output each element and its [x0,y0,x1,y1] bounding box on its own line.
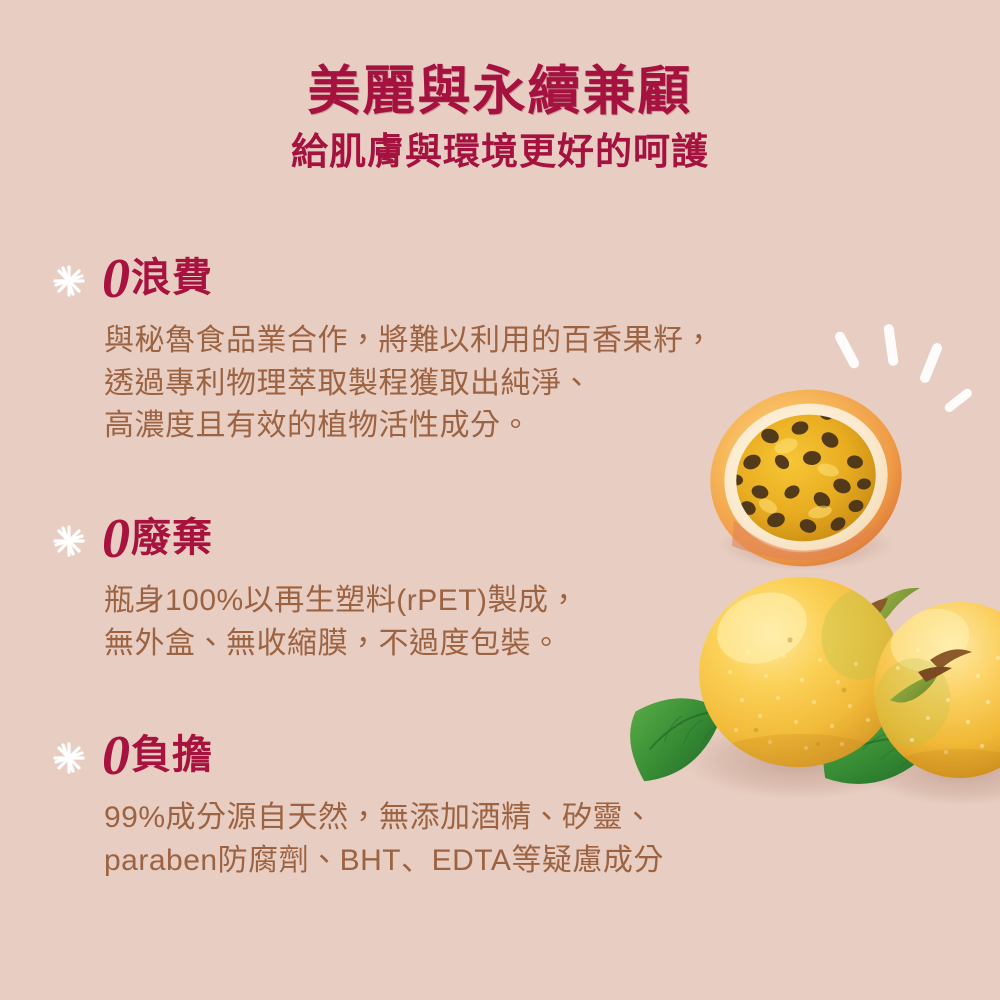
zero-numeral: 0 [102,251,129,307]
page-title: 美麗與永續兼顧 [0,62,1000,121]
body-line: 高濃度且有效的植物活性成分。 [104,405,760,448]
feature-section-zero-waste-packaging: 0 廢棄 瓶身100%以再生塑料(rPET)製成， 無外盒、無收縮膜，不過度包裝… [0,508,760,665]
feature-keyword: 浪費 [131,258,213,300]
feature-heading: 0 廢棄 [0,508,760,570]
body-line: 瓶身100%以再生塑料(rPET)製成， [104,580,760,623]
feature-body: 瓶身100%以再生塑料(rPET)製成， 無外盒、無收縮膜，不過度包裝。 [0,580,760,665]
radiating-dashes-decoration [833,324,973,414]
feature-keyword: 負擔 [131,735,213,777]
sparkle-icon [52,741,86,775]
sparkle-icon [52,264,86,298]
whole-passion-fruit-right [865,593,1000,801]
zero-numeral: 0 [102,728,129,784]
feature-keyword: 廢棄 [131,518,213,560]
body-line: 透過專利物理萃取製程獲取出純淨、 [104,363,760,406]
body-line: 無外盒、無收縮膜，不過度包裝。 [104,623,760,666]
zero-numeral: 0 [102,511,129,567]
header-block: 美麗與永續兼顧 給肌膚與環境更好的呵護 [0,62,1000,174]
body-line: 99%成分源自天然，無添加酒精、矽靈、 [104,797,760,840]
feature-section-zero-burden: 0 負擔 99%成分源自天然，無添加酒精、矽靈、 paraben防腐劑、BHT、… [0,725,760,882]
feature-heading: 0 浪費 [0,248,760,310]
feature-body: 與秘魯食品業合作，將難以利用的百香果籽， 透過專利物理萃取製程獲取出純淨、 高濃… [0,320,760,448]
feature-heading: 0 負擔 [0,725,760,787]
leaf-right [819,704,937,797]
body-line: paraben防腐劑、BHT、EDTA等疑慮成分 [104,840,760,883]
poster-canvas: 美麗與永續兼顧 給肌膚與環境更好的呵護 0 浪費 與秘魯食品業合作，將難以利用的… [0,0,1000,1000]
feature-section-waste: 0 浪費 與秘魯食品業合作，將難以利用的百香果籽， 透過專利物理萃取製程獲取出純… [0,248,760,448]
sparkle-icon [52,524,86,558]
page-subtitle: 給肌膚與環境更好的呵護 [0,131,1000,174]
body-line: 與秘魯食品業合作，將難以利用的百香果籽， [104,320,760,363]
feature-body: 99%成分源自天然，無添加酒精、矽靈、 paraben防腐劑、BHT、EDTA等… [0,797,760,882]
